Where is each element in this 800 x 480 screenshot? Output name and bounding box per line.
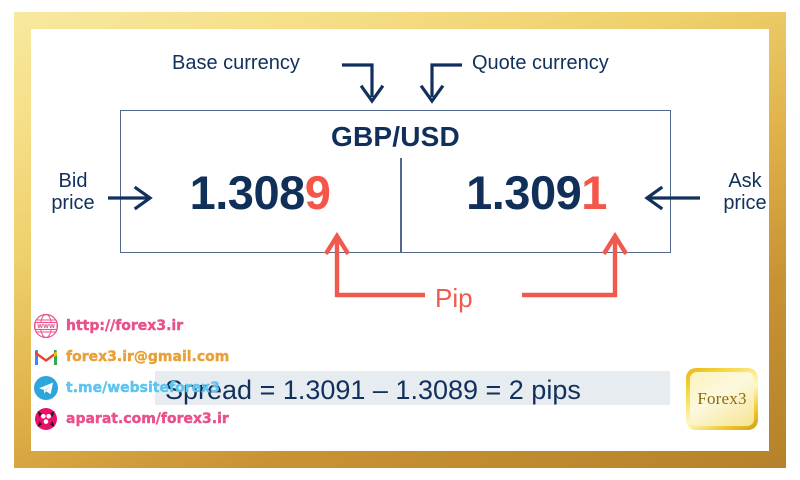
forex3-logo[interactable]: Forex3 [686, 368, 758, 430]
gmail-icon [33, 344, 59, 370]
contact-text-telegram: t.me/websiteforex3 [66, 380, 220, 396]
forex3-logo-inner: Forex3 [690, 372, 754, 426]
contact-row-aparat[interactable]: aparat.com/forex3.ir [33, 404, 263, 434]
www-globe-icon: WWW [33, 313, 59, 339]
contact-row-telegram[interactable]: t.me/websiteforex3 [33, 373, 263, 403]
bid-price-label-line1: Bid [34, 170, 112, 192]
quote-currency-label: Quote currency [472, 52, 609, 74]
ask-price-label: Ask price [706, 170, 784, 215]
base-currency-label: Base currency [172, 52, 300, 74]
pip-label: Pip [435, 283, 473, 314]
bid-price-prefix: 1.308 [190, 166, 305, 219]
contact-text-email: forex3.ir@gmail.com [66, 349, 229, 365]
ask-price-pip-digit: 1 [581, 166, 607, 219]
currency-pair-label: GBP/USD [120, 121, 671, 153]
telegram-icon [33, 375, 59, 401]
forex3-logo-text: Forex3 [697, 389, 746, 409]
bid-price-label: Bid price [34, 170, 112, 215]
contact-row-email[interactable]: forex3.ir@gmail.com [33, 342, 263, 372]
contact-text-website: http://forex3.ir [66, 318, 183, 334]
aparat-icon [33, 406, 59, 432]
ask-price-value: 1.3091 [402, 169, 671, 216]
ask-price-label-line2: price [706, 192, 784, 214]
contact-row-website[interactable]: WWW http://forex3.ir [33, 311, 263, 341]
contact-list: WWW http://forex3.ir forex3.ir@gmail.com [33, 311, 263, 435]
svg-text:WWW: WWW [37, 324, 55, 330]
bid-price-label-line2: price [34, 192, 112, 214]
contact-text-aparat: aparat.com/forex3.ir [66, 411, 229, 427]
bid-price-pip-digit: 9 [305, 166, 331, 219]
bid-price-value: 1.3089 [120, 169, 400, 216]
ask-price-prefix: 1.309 [466, 166, 581, 219]
infographic-root: GBP/USD 1.3089 1.3091 Base currency Quot… [0, 0, 800, 480]
ask-price-label-line1: Ask [706, 170, 784, 192]
